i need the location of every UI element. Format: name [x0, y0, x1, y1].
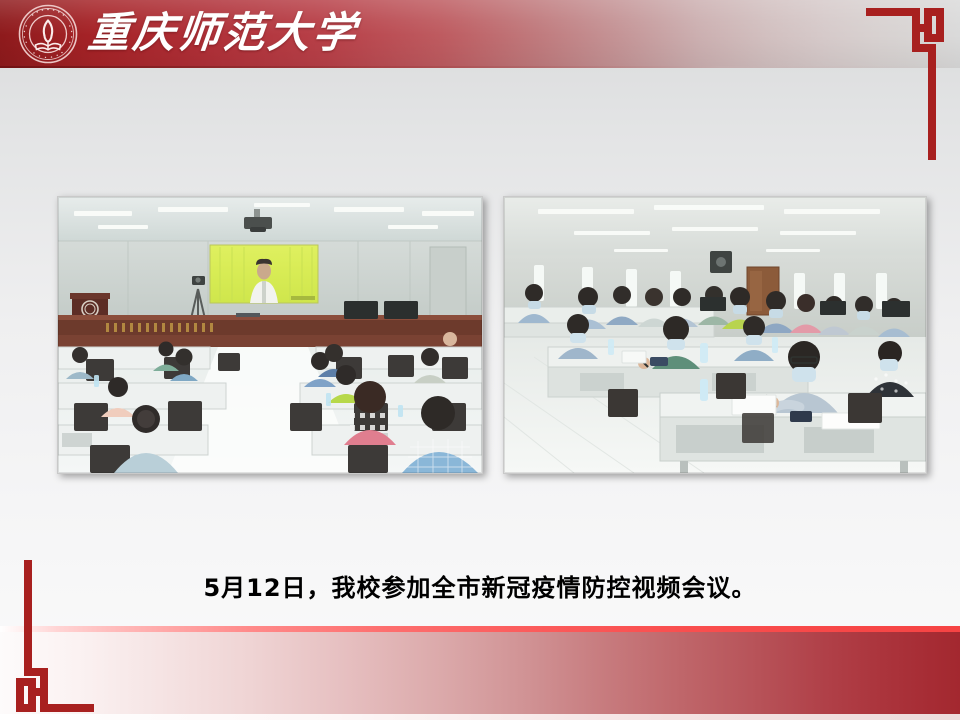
university-name-title: 重庆师范大学 — [85, 4, 361, 64]
header-bottom-edge — [0, 66, 960, 68]
footer-bottom-strip — [0, 714, 960, 720]
photo-conference-room-screen — [57, 196, 483, 474]
corner-ornament-bottom-left — [16, 560, 94, 712]
university-seal-icon — [18, 4, 78, 64]
corner-ornament-top-right — [866, 8, 944, 160]
footer-accent-line — [0, 626, 960, 632]
slide-caption: 5月12日，我校参加全市新冠疫情防控视频会议。 — [0, 568, 960, 603]
photo-attendees-taking-notes — [503, 196, 927, 474]
presentation-slide: 重庆师范大学 — [0, 0, 960, 720]
footer-banner — [0, 626, 960, 720]
